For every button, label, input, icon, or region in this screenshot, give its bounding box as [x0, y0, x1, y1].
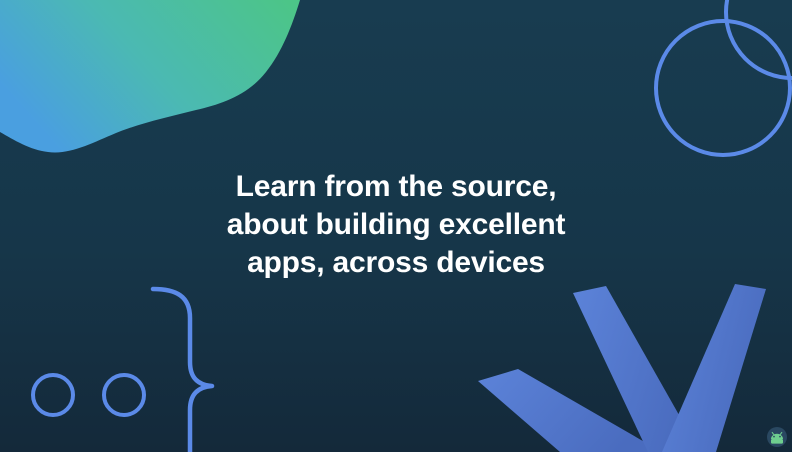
page-title: Learn from the source, about building ex… — [0, 168, 792, 282]
android-watermark — [767, 427, 787, 447]
android-eye-left-icon — [773, 436, 775, 438]
android-eye-right-icon — [779, 436, 781, 438]
slide-canvas: Learn from the source, about building ex… — [0, 0, 792, 452]
android-body-icon — [771, 439, 783, 444]
